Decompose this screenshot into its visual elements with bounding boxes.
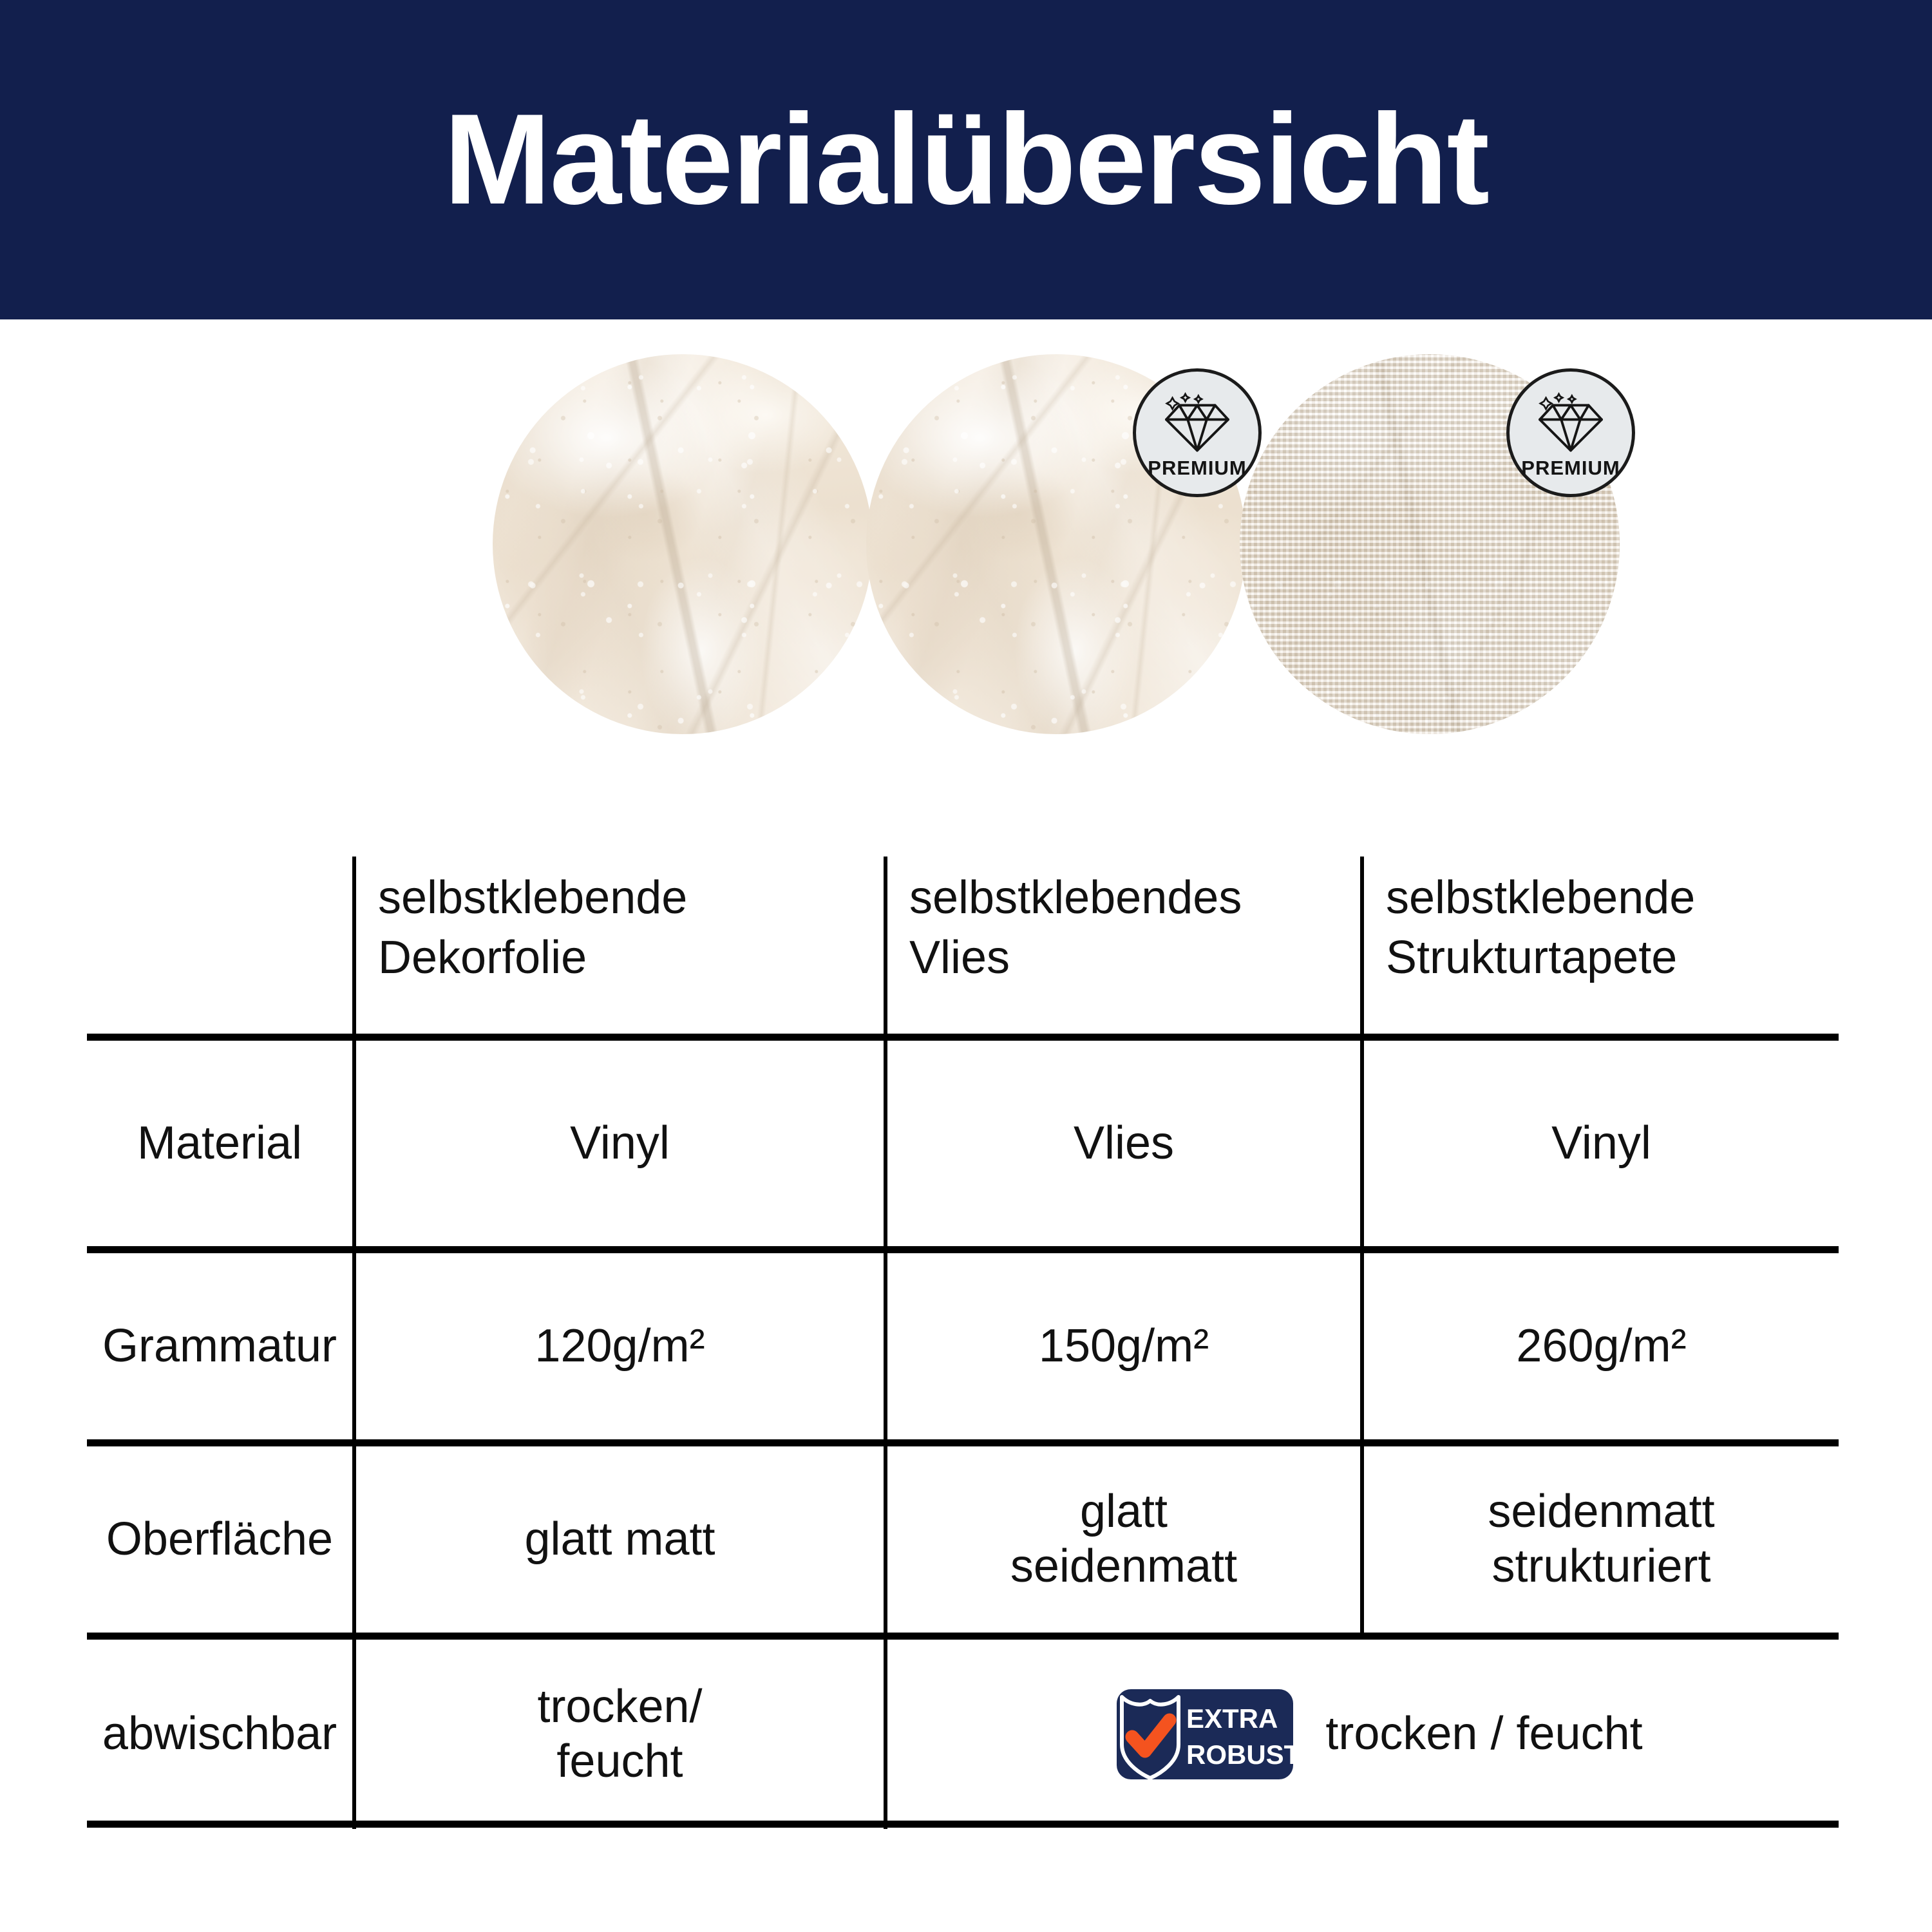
cell-line2: strukturiert <box>1378 1539 1824 1594</box>
column-header-line1: selbstklebendes <box>909 866 1346 925</box>
column-header-strukturtapete: selbstklebende Strukturtapete <box>1362 857 1839 1037</box>
diamond-icon <box>1161 392 1233 454</box>
cell-line2: feucht <box>370 1734 869 1789</box>
cell-material-dekorfolie: Vinyl <box>354 1037 885 1249</box>
cell-abwischbar-merged-text: trocken / feucht <box>1325 1707 1642 1761</box>
material-swatch-row: PREMIUM PREMIUM <box>0 348 1932 760</box>
page-header: Materialübersicht <box>0 0 1932 319</box>
premium-badge-label: PREMIUM <box>1148 458 1246 478</box>
cell-line1: seidenmatt <box>1378 1484 1824 1539</box>
cell-material-vlies: Vlies <box>885 1037 1362 1249</box>
row-label-oberflaeche: Oberfläche <box>87 1443 354 1636</box>
row-label-material: Material <box>87 1037 354 1249</box>
robust-line2-text: ROBUST <box>1186 1739 1296 1770</box>
column-header-line2: Vlies <box>909 925 1346 985</box>
cell-grammatur-vlies: 150g/m² <box>885 1249 1362 1443</box>
robust-line1-text: EXTRA <box>1186 1703 1278 1734</box>
column-header-line1: selbstklebende <box>378 866 869 925</box>
row-label-abwischbar: abwischbar <box>87 1636 354 1829</box>
extra-robust-badge: EXTRA ROBUST <box>1083 1685 1296 1783</box>
column-header-line1: selbstklebende <box>1386 866 1824 925</box>
column-header-dekorfolie: selbstklebende Dekorfolie <box>354 857 885 1037</box>
column-header-line2: Strukturtapete <box>1386 925 1824 985</box>
premium-badge: PREMIUM <box>1506 368 1635 497</box>
page-title: Materialübersicht <box>444 95 1488 224</box>
cell-line1: glatt <box>902 1484 1346 1539</box>
cell-oberflaeche-dekorfolie: glatt matt <box>354 1443 885 1636</box>
swatch-vlies[interactable]: PREMIUM <box>866 354 1246 734</box>
material-spec-table-wrapper: selbstklebende Dekorfolie selbstklebende… <box>87 857 1839 1829</box>
premium-badge: PREMIUM <box>1133 368 1262 497</box>
cell-line1: glatt matt <box>524 1513 715 1565</box>
cell-line2: seidenmatt <box>902 1539 1346 1594</box>
table-header-row: selbstklebende Dekorfolie selbstklebende… <box>87 857 1839 1037</box>
diamond-icon <box>1535 392 1607 454</box>
marble-grain-overlay <box>493 354 873 734</box>
table-row-grammatur: Grammatur 120g/m² 150g/m² 260g/m² <box>87 1249 1839 1443</box>
column-header-line2: Dekorfolie <box>378 925 869 985</box>
cell-line1: trocken/ <box>370 1680 869 1734</box>
corner-cell <box>87 857 354 1037</box>
cell-oberflaeche-vlies: glatt seidenmatt <box>885 1443 1362 1636</box>
swatch-dekorfolie[interactable] <box>493 354 873 734</box>
column-header-vlies: selbstklebendes Vlies <box>885 857 1362 1037</box>
cell-abwischbar-merged: EXTRA ROBUST trocken / feucht <box>885 1636 1839 1829</box>
cell-abwischbar-dekorfolie: trocken/ feucht <box>354 1636 885 1829</box>
table-row-material: Material Vinyl Vlies Vinyl <box>87 1037 1839 1249</box>
premium-badge-label: PREMIUM <box>1521 458 1620 478</box>
cell-grammatur-strukturtapete: 260g/m² <box>1362 1249 1839 1443</box>
table-bottom-rule <box>87 1821 1839 1828</box>
table-row-abwischbar: abwischbar trocken/ feucht EXTRA <box>87 1636 1839 1829</box>
shield-check-icon: EXTRA ROBUST <box>1083 1685 1296 1783</box>
swatch-strukturtapete[interactable]: PREMIUM <box>1240 354 1620 734</box>
table-row-oberflaeche: Oberfläche glatt matt glatt seidenmatt s… <box>87 1443 1839 1636</box>
cell-grammatur-dekorfolie: 120g/m² <box>354 1249 885 1443</box>
cell-material-strukturtapete: Vinyl <box>1362 1037 1839 1249</box>
material-spec-table: selbstklebende Dekorfolie selbstklebende… <box>87 857 1839 1829</box>
row-label-grammatur: Grammatur <box>87 1249 354 1443</box>
cell-oberflaeche-strukturtapete: seidenmatt strukturiert <box>1362 1443 1839 1636</box>
